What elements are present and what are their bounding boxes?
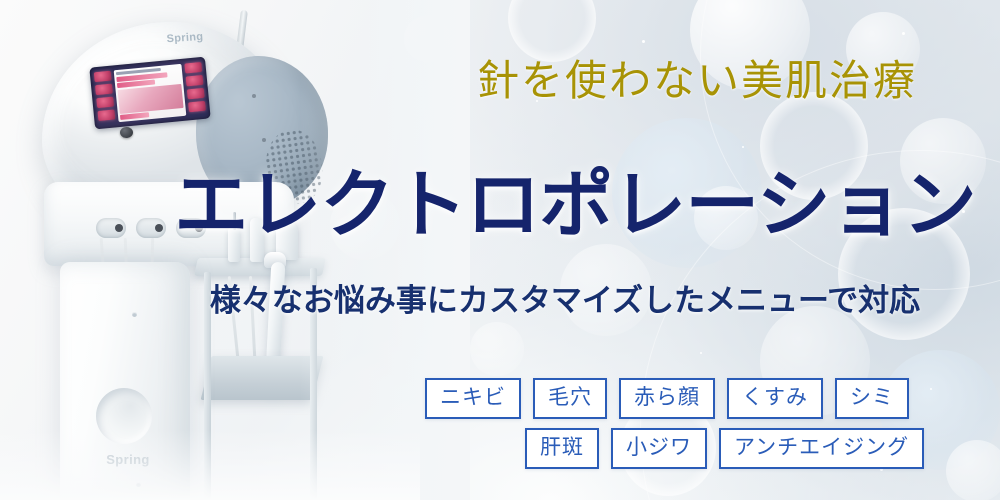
treatment-tag-row-1: ニキビ 毛穴 赤ら顔 くすみ シミ [425,378,909,419]
screen-key [97,109,115,121]
treatment-tag-nikibi[interactable]: ニキビ [425,378,521,419]
device-pedestal-dimple [96,388,152,444]
bokeh-circle [508,0,596,62]
screen-right-keypad [184,62,206,115]
electroporation-device-photo: Spring [0,0,420,500]
sparkle [642,40,645,43]
device-screw [262,138,266,142]
banner-title: エレクトロポレーション [145,168,1000,242]
sparkle [700,352,702,354]
banner-subtitle: 様々なお悩み事にカスタマイズしたメニューで対応 [150,284,980,318]
screen-key [184,62,202,74]
device-screw [136,482,141,487]
device-touchscreen [89,57,210,130]
treatment-tag-akaragao[interactable]: 赤ら顔 [619,378,715,419]
device-port [96,218,126,238]
device-power-knob [120,127,133,138]
device-screw [252,94,256,98]
screen-left-keypad [94,71,116,124]
treatment-tag-kojiwa[interactable]: 小ジワ [611,428,707,469]
screen-key [188,101,206,113]
screen-graphic [118,83,184,113]
treatment-tag-shimi[interactable]: シミ [835,378,909,419]
treatment-tag-row-2: 肝斑 小ジワ アンチエイジング [525,428,924,469]
device-screw [132,312,137,317]
treatment-tag-keana[interactable]: 毛穴 [533,378,607,419]
sparkle [902,32,905,35]
screen-key [95,84,113,96]
bokeh-circle [470,322,524,376]
treatment-tag-kanpan[interactable]: 肝斑 [525,428,599,469]
treatment-tag-anti-aging[interactable]: アンチエイジング [719,428,924,469]
banner-tagline: 針を使わない美肌治療 [418,58,976,103]
screen-key [94,71,112,83]
sparkle [930,388,932,390]
screen-key [186,75,204,87]
screen-bar [120,112,149,120]
sparkle [742,146,744,148]
screen-main-panel [114,64,187,122]
treatment-tag-kusumi[interactable]: くすみ [727,378,823,419]
bokeh-circle [946,440,1000,500]
device-pedestal-logo: Spring [68,452,188,467]
screen-key [96,97,114,109]
device-lower-tray [201,356,324,400]
hero-banner: Spring [0,0,1000,500]
screen-key [187,88,205,100]
